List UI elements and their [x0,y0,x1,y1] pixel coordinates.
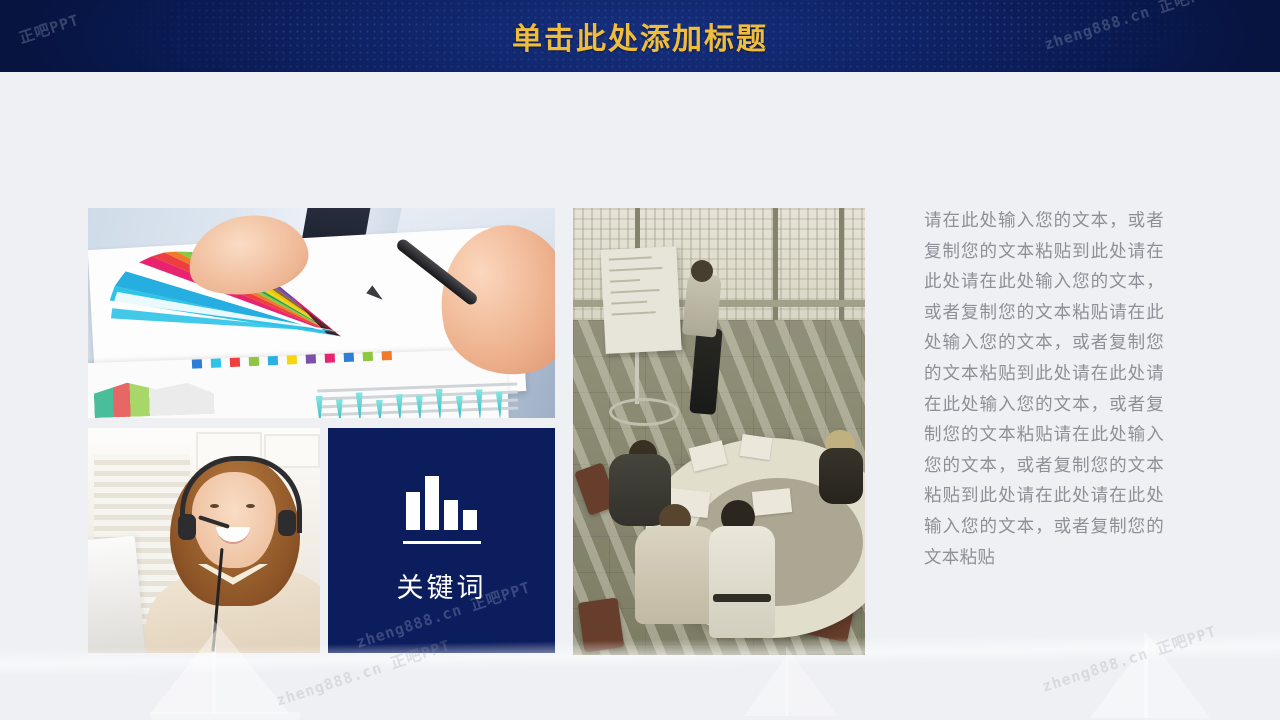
keyword-divider [403,541,481,544]
business-charts-photo[interactable] [88,208,555,418]
bar-chart-icon [406,476,477,530]
keyword-card[interactable]: 关键词 zheng888.cn 正吧PPT [328,428,555,653]
photo-headset-earcup-left [178,514,196,540]
photo-sepia-tint [573,208,865,655]
photo-headset-earcup-right [278,510,296,536]
meeting-room-photo[interactable] [573,208,865,655]
slide-header: 单击此处添加标题 正吧PPT zheng888.cn 正吧PPT [0,0,1280,72]
watermark-bottom-right: zheng888.cn 正吧PPT [1039,620,1219,696]
body-paragraph[interactable]: 请在此处输入您的文本，或者复制您的文本粘贴到此处请在此处请在此处输入您的文本，或… [924,206,1164,573]
slide-title[interactable]: 单击此处添加标题 [0,0,1280,72]
keyword-label: 关键词 [397,566,487,605]
call-center-agent-photo[interactable] [88,428,320,653]
